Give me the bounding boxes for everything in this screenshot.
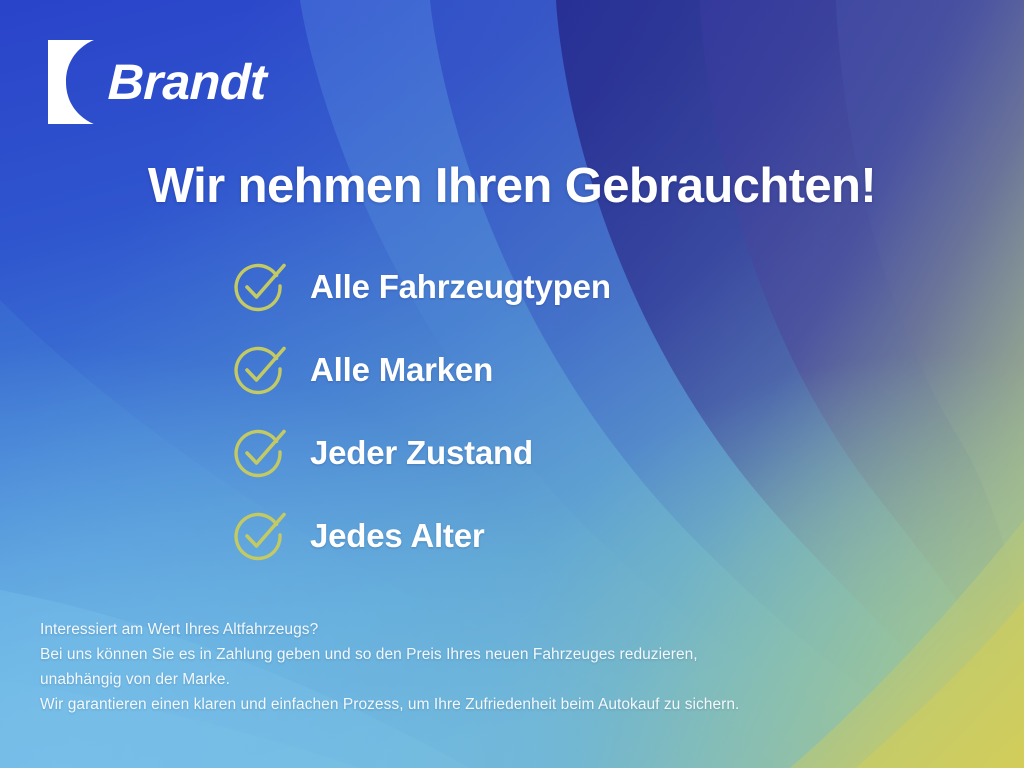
- list-item-label: Alle Marken: [310, 353, 493, 386]
- description-line: unabhängig von der Marke.: [40, 667, 739, 692]
- list-item-label: Jedes Alter: [310, 519, 485, 552]
- promo-banner: Brandt Wir nehmen Ihren Gebrauchten! All…: [0, 0, 1024, 768]
- list-item: Jedes Alter: [232, 507, 611, 563]
- description-line: Bei uns können Sie es in Zahlung geben u…: [40, 642, 739, 667]
- list-item-label: Jeder Zustand: [310, 436, 533, 469]
- check-circle-icon: [232, 341, 288, 397]
- list-item-label: Alle Fahrzeugtypen: [310, 270, 611, 303]
- list-item: Alle Fahrzeugtypen: [232, 258, 611, 314]
- check-circle-icon: [232, 258, 288, 314]
- benefits-list: Alle Fahrzeugtypen Alle Marken: [232, 258, 611, 563]
- list-item: Jeder Zustand: [232, 424, 611, 480]
- description-text: Interessiert am Wert Ihres Altfahrzeugs?…: [40, 617, 739, 717]
- description-line: Interessiert am Wert Ihres Altfahrzeugs?: [40, 617, 739, 642]
- brand-wordmark: Brandt: [107, 57, 267, 107]
- check-circle-icon: [232, 507, 288, 563]
- bracket-arc-mark-icon: [48, 40, 94, 124]
- page-title: Wir nehmen Ihren Gebrauchten!: [0, 160, 1024, 213]
- check-circle-icon: [232, 424, 288, 480]
- brand-logo[interactable]: Brandt: [48, 40, 266, 124]
- description-line: Wir garantieren einen klaren und einfach…: [40, 692, 739, 717]
- list-item: Alle Marken: [232, 341, 611, 397]
